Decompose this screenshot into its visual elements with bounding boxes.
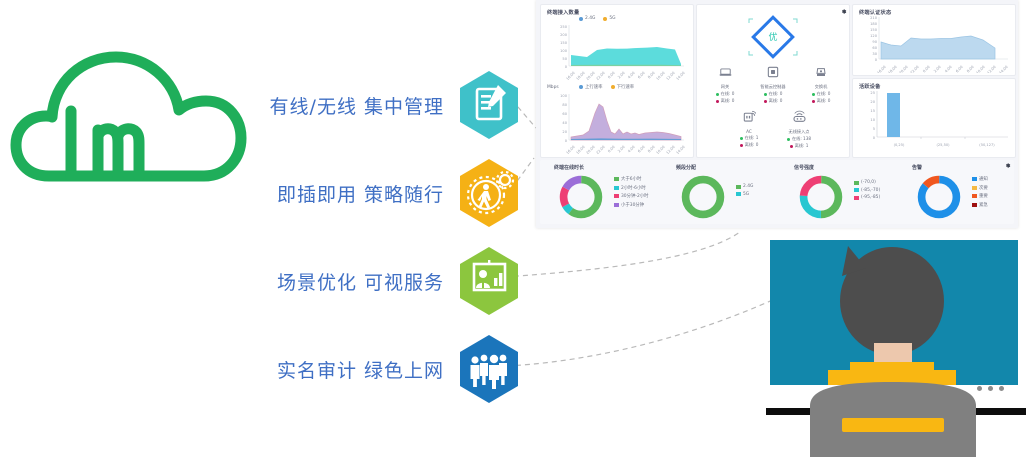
- device-cell-ac[interactable]: AC 在线: 1 离线: 0: [727, 110, 771, 148]
- svg-text:20: 20: [870, 100, 875, 104]
- svg-text:14:00: 14:00: [676, 70, 687, 81]
- device-offline: 离线: 1: [777, 143, 821, 149]
- svg-text:210: 210: [870, 16, 878, 20]
- legend-item[interactable]: 重要: [972, 193, 988, 199]
- svg-text:6:00: 6:00: [637, 70, 646, 79]
- svg-text:150: 150: [560, 41, 568, 45]
- legend-item[interactable]: 小于30分钟: [614, 202, 649, 208]
- feature-label-2: 即插即用 策略随行: [277, 180, 444, 207]
- svg-text:22:00: 22:00: [596, 70, 607, 81]
- svg-text:18:00: 18:00: [888, 64, 899, 73]
- svg-text:100: 100: [560, 94, 568, 98]
- device-online: 在线: 1: [727, 135, 771, 141]
- svg-text:5: 5: [873, 127, 875, 131]
- terminal-access-chart: 250200 150100 500 16:00 18:00 20:00 22:0…: [541, 23, 693, 81]
- device-name: AC: [727, 129, 771, 134]
- legend-item[interactable]: 次要: [972, 185, 988, 191]
- svg-text:14:00: 14:00: [999, 64, 1010, 73]
- gear-icon[interactable]: [840, 8, 847, 15]
- svg-text:60: 60: [562, 112, 567, 116]
- svg-text:0: 0: [565, 65, 568, 69]
- auth-status-panel[interactable]: 终端认证状态 210180150 1209060 300 16:00 18:00…: [852, 4, 1016, 76]
- donut-title: 终端在线时长: [554, 164, 584, 171]
- device-name: 网关: [703, 84, 747, 90]
- svg-text:250: 250: [560, 25, 568, 29]
- legend-item[interactable]: (-70,0): [854, 180, 880, 185]
- dot-2[interactable]: [988, 386, 993, 391]
- svg-text:2:00: 2:00: [933, 64, 942, 73]
- svg-text:0: 0: [875, 58, 878, 62]
- svg-text:150: 150: [870, 28, 878, 32]
- svg-text:20: 20: [562, 130, 567, 134]
- svg-text:(50,127): (50,127): [979, 143, 995, 147]
- device-name: 智能云控制器: [751, 84, 795, 90]
- svg-text:16:00: 16:00: [566, 144, 577, 155]
- legend-item-5g[interactable]: 5G: [603, 16, 615, 21]
- svg-text:0: 0: [565, 139, 568, 143]
- device-online: 在线: 0: [799, 91, 843, 97]
- svg-text:10:00: 10:00: [656, 70, 667, 81]
- svg-text:4:00: 4:00: [627, 70, 636, 79]
- feature-label-1: 有线/无线 集中管理: [270, 92, 444, 119]
- people-group-icon[interactable]: [458, 334, 520, 404]
- dashboard-screenshot[interactable]: 终端接入数量 2.4G 5G 250200 150100 500 16:00: [536, 0, 1018, 228]
- device-online: 在线: 0: [703, 91, 747, 97]
- terminal-legend: 2.4G 5G: [579, 16, 616, 21]
- svg-text:22:00: 22:00: [910, 64, 921, 73]
- svg-text:14:00: 14:00: [676, 144, 687, 155]
- switch-icon: [815, 66, 827, 78]
- donut-legend: (-70,0) (-85,-70) (-95,-85): [854, 180, 880, 200]
- legend-item[interactable]: 5G: [736, 192, 753, 197]
- device-cell-gateway[interactable]: 网关 在线: 0 离线: 0: [703, 65, 747, 104]
- traffic-unit-label: Mbps: [547, 85, 559, 90]
- terminal-access-panel[interactable]: 终端接入数量 2.4G 5G 250200 150100 500 16:00: [540, 4, 694, 158]
- traffic-rate-chart: 10080 6040 200 16:00 18:00 20:00 22:00 0…: [541, 91, 693, 155]
- svg-text:15: 15: [870, 109, 875, 113]
- svg-text:50: 50: [562, 57, 567, 61]
- feature-label-4: 实名审计 绿色上网: [277, 356, 444, 383]
- svg-text:20:00: 20:00: [586, 70, 597, 81]
- feature-row-2[interactable]: 即插即用 策略随行: [150, 158, 520, 228]
- chair-stripe: [842, 418, 944, 432]
- donut-signal-strength[interactable]: 信号强度 (-70,0) (-85,-70) (-95,-85): [788, 162, 906, 222]
- svg-text:20:00: 20:00: [586, 144, 597, 155]
- legend-item[interactable]: 30分钟-2小时: [614, 193, 649, 199]
- svg-text:(25,50): (25,50): [936, 143, 950, 147]
- active-device-panel[interactable]: 活跃设备 252015 1050 (0,25) (25,50) (50,127): [852, 78, 1016, 158]
- svg-text:12:00: 12:00: [987, 64, 998, 73]
- svg-text:2:00: 2:00: [617, 144, 626, 153]
- device-offline: 离线: 0: [751, 98, 795, 104]
- device-name: 交换机: [799, 84, 843, 90]
- dot-3[interactable]: [999, 386, 1004, 391]
- legend-item-24g[interactable]: 2.4G: [579, 16, 595, 21]
- svg-text:8:00: 8:00: [966, 64, 975, 73]
- svg-text:16:00: 16:00: [566, 70, 577, 81]
- feature-row-3[interactable]: 场景优化 可视服务: [150, 246, 520, 316]
- svg-text:60: 60: [872, 46, 877, 50]
- donut-legend: 大于6小时 2小时-6小时 30分钟-2小时 小于30分钟: [614, 176, 649, 208]
- svg-text:0:00: 0:00: [607, 144, 616, 153]
- svg-text:25: 25: [870, 91, 875, 95]
- device-status-panel[interactable]: 优 网关 在线: 0 离线: 0 智能云控制器 在线: 0 离线: 0: [696, 4, 850, 158]
- gateway-icon: [719, 67, 732, 78]
- donut-title: 频段分配: [676, 164, 696, 171]
- donut-strip-panel[interactable]: 终端在线时长 大于6小时 2小时-6小时 30分钟-2小时 小于30分钟 频段分…: [540, 160, 1014, 224]
- ac-icon: [743, 110, 756, 123]
- svg-text:0:00: 0:00: [922, 64, 931, 73]
- svg-text:6:00: 6:00: [955, 64, 964, 73]
- svg-text:22:00: 22:00: [596, 144, 607, 155]
- legend-item-upload[interactable]: 上行速率: [579, 84, 603, 90]
- device-cell-controller[interactable]: 智能云控制器 在线: 0 离线: 0: [751, 65, 795, 104]
- gear-person-icon[interactable]: [458, 158, 520, 228]
- svg-text:10: 10: [870, 118, 875, 122]
- donut-chart: [798, 174, 844, 220]
- svg-text:0: 0: [873, 136, 876, 140]
- svg-text:20:00: 20:00: [899, 64, 910, 73]
- device-offline: 离线: 0: [799, 98, 843, 104]
- svg-text:4:00: 4:00: [627, 144, 636, 153]
- donut-title: 告警: [912, 164, 922, 171]
- legend-item[interactable]: 2小时-6小时: [614, 185, 649, 191]
- svg-text:18:00: 18:00: [576, 70, 587, 81]
- donut-chart: [680, 174, 726, 220]
- legend-item[interactable]: (-85,-70): [854, 188, 880, 193]
- donut-online-duration[interactable]: 终端在线时长 大于6小时 2小时-6小时 30分钟-2小时 小于30分钟: [548, 162, 666, 222]
- device-offline: 离线: 0: [727, 142, 771, 148]
- device-offline: 离线: 0: [703, 98, 747, 104]
- svg-text:100: 100: [560, 49, 568, 53]
- device-cell-ap[interactable]: 无线接入点 在线: 138 离线: 1: [777, 110, 821, 149]
- legend-item[interactable]: 紧急: [972, 202, 988, 208]
- legend-item[interactable]: (-95,-85): [854, 195, 880, 200]
- svg-text:200: 200: [560, 33, 568, 37]
- svg-text:12:00: 12:00: [666, 144, 677, 155]
- donut-chart: [916, 174, 962, 220]
- device-online: 在线: 0: [751, 91, 795, 97]
- pagination-dots[interactable]: [977, 386, 1004, 391]
- donut-chart: [558, 174, 604, 220]
- quality-badge-text: 优: [768, 31, 777, 43]
- legend-item[interactable]: 大于6小时: [614, 176, 649, 182]
- feature-label-3: 场景优化 可视服务: [277, 268, 444, 295]
- donut-alarm[interactable]: 告警 通知 次要 重要 紧急: [906, 162, 1024, 222]
- device-cell-switch[interactable]: 交换机 在线: 0 离线: 0: [799, 65, 843, 104]
- document-edit-icon[interactable]: [458, 70, 520, 140]
- dot-1[interactable]: [977, 386, 982, 391]
- svg-text:12:00: 12:00: [666, 70, 677, 81]
- presentation-chart-icon[interactable]: [458, 246, 520, 316]
- auth-status-chart: 210180150 1209060 300 16:00 18:00 20:00 …: [853, 15, 1015, 73]
- svg-text:4:00: 4:00: [944, 64, 953, 73]
- traffic-legend: 上行速率 下行速率: [579, 84, 634, 90]
- donut-legend: 2.4G 5G: [736, 184, 753, 197]
- active-device-chart: 252015 1050 (0,25) (25,50) (50,127): [853, 89, 1015, 155]
- controller-icon: [767, 66, 779, 78]
- legend-item-download[interactable]: 下行速率: [611, 84, 635, 90]
- svg-text:90: 90: [872, 40, 877, 44]
- svg-text:40: 40: [562, 121, 567, 125]
- donut-legend: 通知 次要 重要 紧急: [972, 176, 988, 208]
- svg-text:80: 80: [562, 103, 567, 107]
- device-online: 在线: 138: [777, 136, 821, 142]
- svg-text:(0,25): (0,25): [894, 143, 905, 147]
- svg-text:10:00: 10:00: [656, 144, 667, 155]
- svg-text:180: 180: [870, 22, 878, 26]
- svg-text:0:00: 0:00: [607, 70, 616, 79]
- donut-band-allocation[interactable]: 频段分配 2.4G 5G: [670, 162, 788, 222]
- svg-text:120: 120: [870, 34, 878, 38]
- svg-text:6:00: 6:00: [637, 144, 646, 153]
- svg-text:30: 30: [872, 52, 877, 56]
- legend-item[interactable]: 通知: [972, 176, 988, 182]
- quality-badge: 优: [735, 11, 811, 63]
- svg-text:2:00: 2:00: [617, 70, 626, 79]
- terminal-panel-title: 终端接入数量: [547, 9, 579, 16]
- person-at-monitor: [766, 238, 1026, 457]
- ap-icon: [792, 110, 807, 123]
- device-name: 无线接入点: [777, 129, 821, 135]
- legend-item[interactable]: 2.4G: [736, 184, 753, 189]
- donut-title: 信号强度: [794, 164, 814, 171]
- svg-text:16:00: 16:00: [877, 64, 888, 73]
- feature-row-1[interactable]: 有线/无线 集中管理: [150, 70, 520, 140]
- svg-text:10:00: 10:00: [976, 64, 987, 73]
- svg-text:18:00: 18:00: [576, 144, 587, 155]
- feature-row-4[interactable]: 实名审计 绿色上网: [150, 334, 520, 404]
